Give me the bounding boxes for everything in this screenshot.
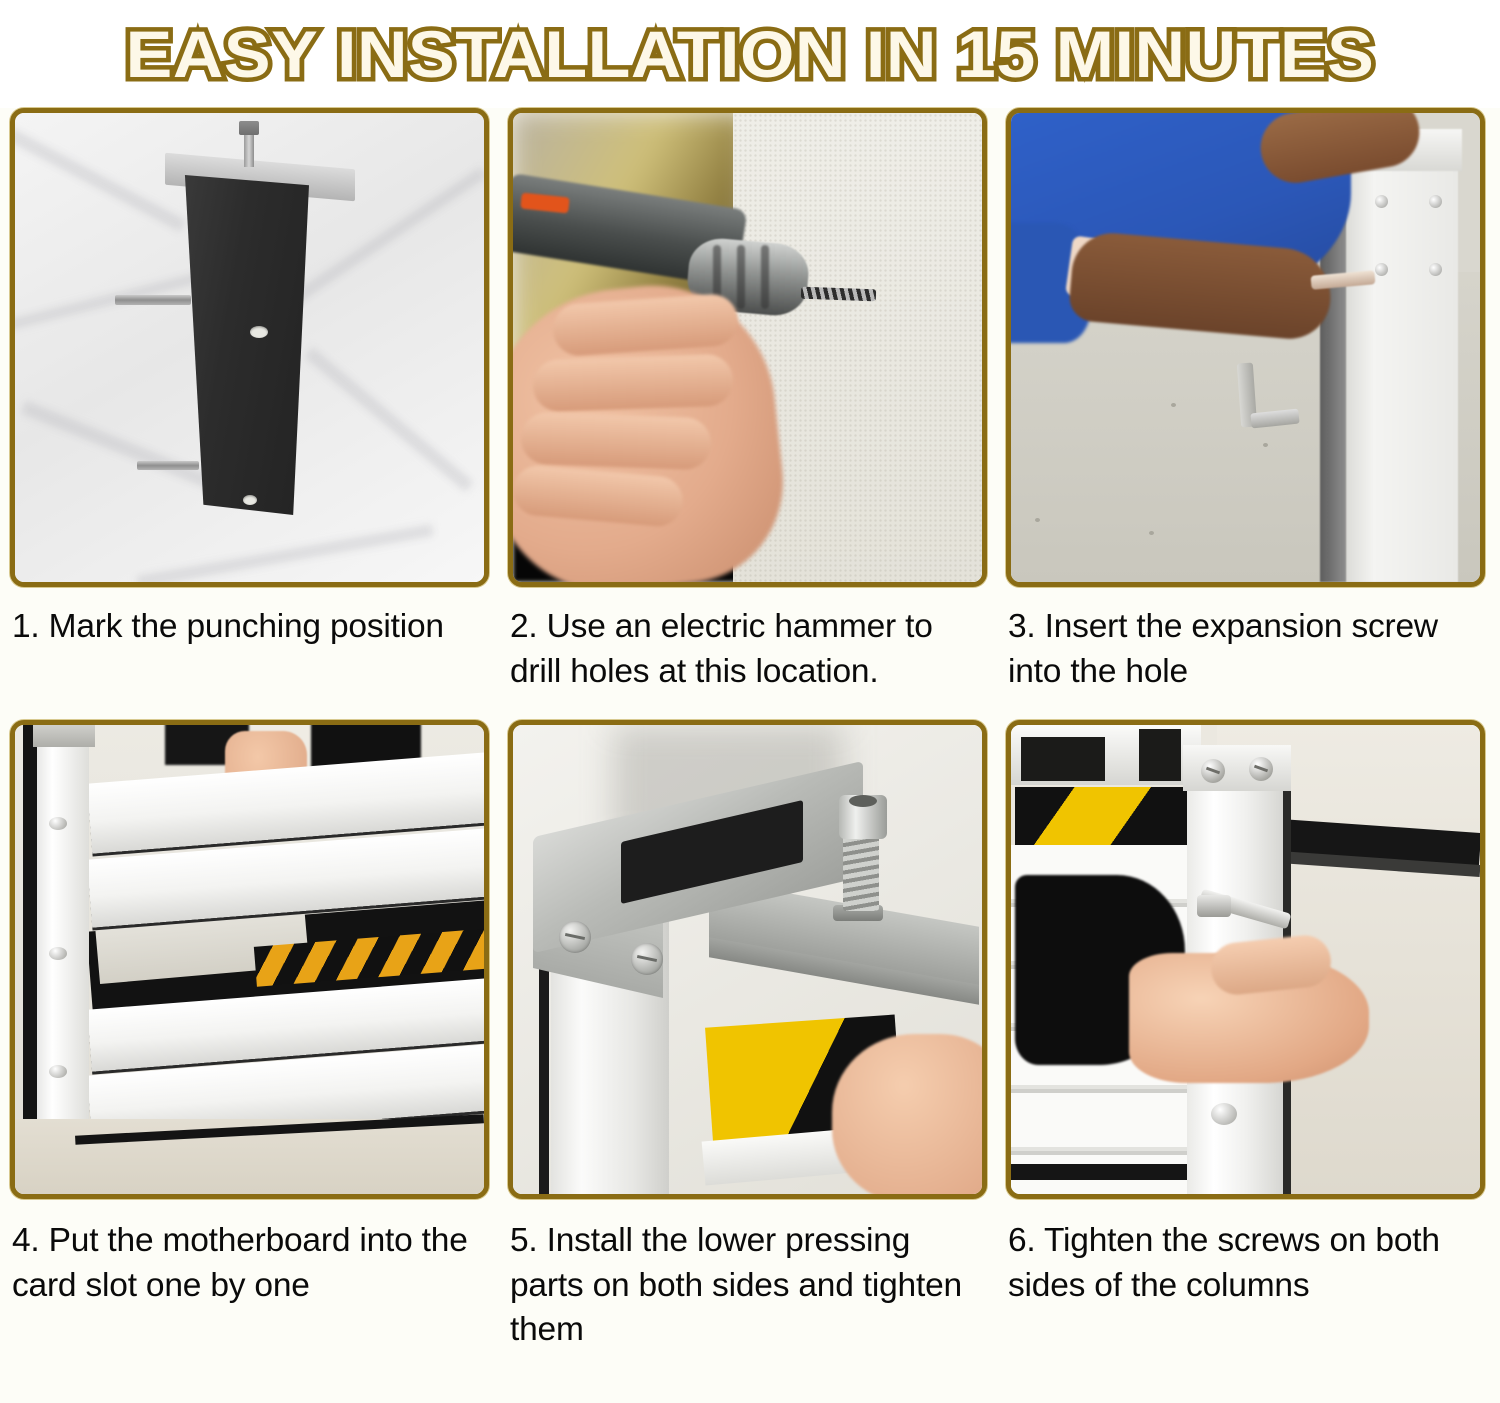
step-photo-5 [513, 725, 982, 1194]
screw-icon [1201, 759, 1225, 783]
drill-bit [801, 287, 876, 302]
step-caption-6: 6. Tighten the screws on both sides of t… [1006, 1199, 1485, 1308]
header-banner: EASY INSTALLATION IN 15 MINUTES [0, 0, 1500, 108]
step-image-frame-3 [1006, 108, 1485, 587]
step-card-3: 3. Insert the expansion screw into the h… [1006, 108, 1485, 694]
anchor-bolt-icon [137, 461, 199, 470]
step-image-frame-6 [1006, 720, 1485, 1199]
barrier-column [37, 725, 89, 1125]
step-caption-4: 4. Put the motherboard into the card slo… [10, 1199, 489, 1308]
step-card-6: 6. Tighten the screws on both sides of t… [1006, 720, 1485, 1353]
row-spacer [0, 694, 1500, 720]
step-photo-4 [15, 725, 484, 1194]
step-photo-6 [1011, 725, 1480, 1194]
step-image-frame-2 [508, 108, 987, 587]
anchor-bolt-icon [115, 295, 191, 305]
step-caption-3: 3. Insert the expansion screw into the h… [1006, 587, 1485, 694]
screw-icon [1249, 757, 1273, 781]
step-image-frame-4 [10, 720, 489, 1199]
step-image-frame-1 [10, 108, 489, 587]
steps-grid-row-1: 1. Mark the punching position 2. Use an … [0, 108, 1500, 694]
step-card-4: 4. Put the motherboard into the card slo… [10, 720, 489, 1353]
step-card-5: 5. Install the lower pressing parts on b… [508, 720, 987, 1353]
page-title: EASY INSTALLATION IN 15 MINUTES [126, 21, 1375, 87]
step-card-1: 1. Mark the punching position [10, 108, 489, 694]
step-photo-3 [1011, 113, 1480, 582]
steps-grid-row-2: 4. Put the motherboard into the card slo… [0, 720, 1500, 1353]
hazard-stripe [1015, 787, 1187, 845]
step-photo-1 [15, 113, 484, 582]
step-card-2: 2. Use an electric hammer to drill holes… [508, 108, 987, 694]
step-caption-2: 2. Use an electric hammer to drill holes… [508, 587, 987, 694]
step-caption-5: 5. Install the lower pressing parts on b… [508, 1199, 987, 1353]
step-image-frame-5 [508, 720, 987, 1199]
knurled-bolt-icon [843, 829, 879, 911]
step-caption-1: 1. Mark the punching position [10, 587, 489, 650]
step-photo-2 [513, 113, 982, 582]
